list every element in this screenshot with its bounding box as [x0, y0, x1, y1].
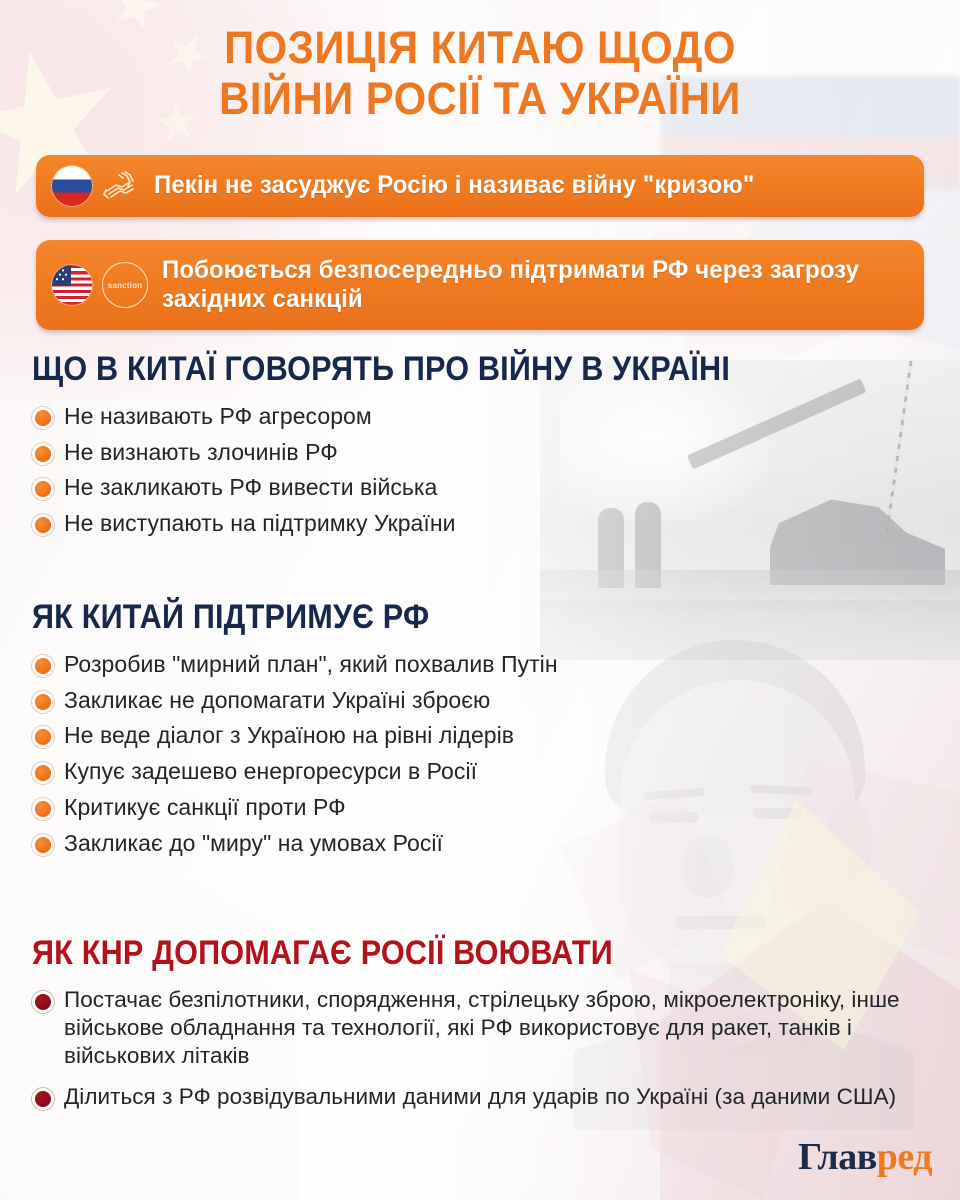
- sanction-badge-icon: sanction: [102, 262, 148, 308]
- section-how-china-supports-rf: ЯК КИТАЙ ПІДТРИМУЄ РФ Розробив "мирний п…: [32, 600, 558, 865]
- list-item: Не називають РФ агресором: [32, 402, 808, 432]
- bullet-dot-icon: [32, 514, 54, 536]
- section-what-china-says: ЩО В КИТАЇ ГОВОРЯТЬ ПРО ВІЙНУ В УКРАЇНІ …: [32, 352, 808, 545]
- logo-part-1: Глав: [798, 1136, 877, 1178]
- list-item-label: Не виступають на підтримку України: [64, 509, 455, 539]
- usa-flag-icon: [52, 265, 92, 305]
- list-item-label: Не веде діалог з Україною на рівні лідер…: [64, 721, 514, 751]
- banner-2-text: Побоюється безпосередньо підтримати РФ ч…: [162, 256, 878, 315]
- infographic-page: ПОЗИЦІЯ КИТАЮ ЩОДО ВІЙНИ РОСІЇ ТА УКРАЇН…: [0, 0, 960, 1200]
- list-item-label: Розробив "мирний план", який похвалив Пу…: [64, 650, 558, 680]
- list-item: Критикує санкції проти РФ: [32, 793, 558, 823]
- list-item: Не веде діалог з Україною на рівні лідер…: [32, 721, 558, 751]
- page-title: ПОЗИЦІЯ КИТАЮ ЩОДО ВІЙНИ РОСІЇ ТА УКРАЇН…: [34, 22, 927, 125]
- banner-2-icons: sanction: [52, 262, 148, 308]
- list-item-label: Критикує санкції проти РФ: [64, 793, 346, 823]
- handshake-icon: [100, 169, 140, 203]
- list-item-label: Купує задешево енергоресурси в Росії: [64, 757, 477, 787]
- list-item: Закликає не допомагати Україні зброєю: [32, 686, 558, 716]
- bullet-dot-icon: [32, 762, 54, 784]
- section-2-list: Розробив "мирний план", який похвалив Пу…: [32, 650, 558, 859]
- bullet-dot-icon: [32, 655, 54, 677]
- list-item-label: Не визнають злочинів РФ: [64, 438, 338, 468]
- section-1-list: Не називають РФ агресором Не визнають зл…: [32, 402, 808, 540]
- section-how-prc-helps-russia-fight: ЯК КНР ДОПОМАГАЄ РОСІЇ ВОЮВАТИ Постачає …: [32, 936, 960, 1123]
- list-item: Не виступають на підтримку України: [32, 509, 808, 539]
- list-item: Розробив "мирний план", який похвалив Пу…: [32, 650, 558, 680]
- list-item-label: Ділиться з РФ розвідувальними даними для…: [64, 1083, 896, 1111]
- bullet-dot-icon: [32, 991, 54, 1013]
- banner-1-icons: [52, 166, 140, 206]
- list-item: Не закликають РФ вивести війська: [32, 473, 808, 503]
- bullet-dot-icon: [32, 407, 54, 429]
- section-1-heading: ЩО В КИТАЇ ГОВОРЯТЬ ПРО ВІЙНУ В УКРАЇНІ: [32, 352, 730, 388]
- banner-1-text: Пекін не засуджує Росію і називає війну …: [154, 171, 754, 201]
- list-item-label: Закликає не допомагати Україні зброєю: [64, 686, 490, 716]
- list-item-label: Постачає безпілотники, спорядження, стрі…: [64, 986, 960, 1071]
- bullet-dot-icon: [32, 726, 54, 748]
- bullet-dot-icon: [32, 478, 54, 500]
- glavred-logo[interactable]: Главред: [798, 1138, 932, 1176]
- section-3-heading: ЯК КНР ДОПОМАГАЄ РОСІЇ ВОЮВАТИ: [32, 936, 867, 972]
- bullet-dot-icon: [32, 691, 54, 713]
- bullet-dot-icon: [32, 1088, 54, 1110]
- list-item: Купує задешево енергоресурси в Росії: [32, 757, 558, 787]
- page-title-line-2: ВІЙНИ РОСІЇ ТА УКРАЇНИ: [34, 73, 927, 124]
- russia-flag-icon: [52, 166, 92, 206]
- statement-banner-1: Пекін не засуджує Росію і називає війну …: [36, 155, 924, 217]
- sanction-badge-label: sanction: [108, 281, 143, 290]
- statement-banner-2: sanction Побоюється безпосередньо підтри…: [36, 240, 924, 330]
- bullet-dot-icon: [32, 834, 54, 856]
- bullet-dot-icon: [32, 443, 54, 465]
- section-3-list: Постачає безпілотники, спорядження, стрі…: [32, 986, 960, 1111]
- page-title-line-1: ПОЗИЦІЯ КИТАЮ ЩОДО: [34, 22, 927, 73]
- list-item: Постачає безпілотники, спорядження, стрі…: [32, 986, 960, 1071]
- bullet-dot-icon: [32, 798, 54, 820]
- section-2-heading: ЯК КИТАЙ ПІДТРИМУЄ РФ: [32, 600, 505, 636]
- list-item-label: Не закликають РФ вивести війська: [64, 473, 437, 503]
- list-item-label: Не називають РФ агресором: [64, 402, 372, 432]
- list-item: Ділиться з РФ розвідувальними даними для…: [32, 1083, 960, 1111]
- list-item: Не визнають злочинів РФ: [32, 438, 808, 468]
- list-item: Закликає до "миру" на умовах Росії: [32, 829, 558, 859]
- logo-part-2: ред: [877, 1136, 932, 1178]
- list-item-label: Закликає до "миру" на умовах Росії: [64, 829, 443, 859]
